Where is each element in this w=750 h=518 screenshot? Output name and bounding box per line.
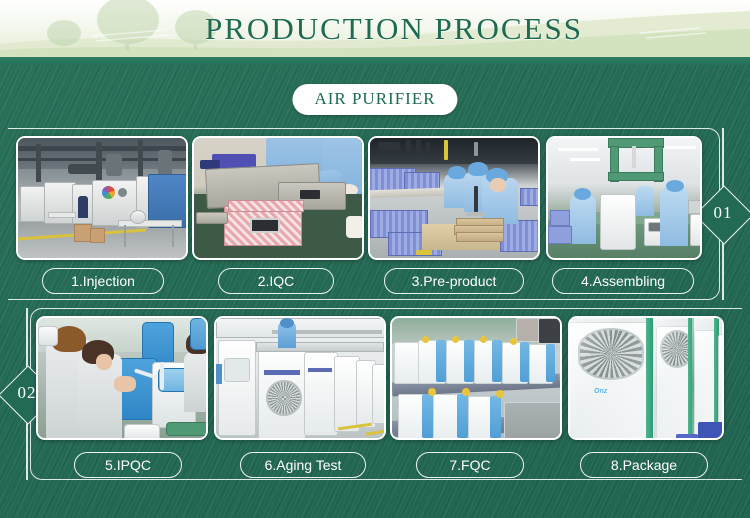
row-1-marker-number: 01 — [696, 203, 750, 223]
step-photo-ipqc[interactable] — [36, 316, 208, 440]
photo-final-quality-control — [392, 318, 560, 438]
photo-injection-molding — [18, 138, 186, 258]
photo-in-process-quality-control — [38, 318, 206, 438]
row-1-step-marker: 01 — [696, 128, 750, 300]
step-photo-fqc[interactable] — [390, 316, 562, 440]
production-process-infographic: PRODUCTION PROCESS AIR PURIFIER 01 02 — [0, 0, 750, 518]
photo-incoming-quality-control — [194, 138, 362, 258]
photo-packaged-units: Onz — [570, 318, 722, 438]
product-category-badge: AIR PURIFIER — [292, 84, 457, 115]
step-photo-injection[interactable] — [16, 136, 188, 260]
photo-pre-product-assembly — [370, 138, 538, 258]
step-caption-7: 7.FQC — [416, 452, 524, 478]
step-caption-5: 5.IPQC — [74, 452, 182, 478]
header-band: PRODUCTION PROCESS — [0, 0, 750, 57]
step-caption-1: 1.Injection — [42, 268, 164, 294]
step-caption-8: 8.Package — [580, 452, 708, 478]
step-photo-pre-product[interactable] — [368, 136, 540, 260]
step-caption-2: 2.IQC — [218, 268, 334, 294]
step-photo-aging-test[interactable] — [214, 316, 386, 440]
step-caption-3: 3.Pre-product — [384, 268, 524, 294]
header-divider — [0, 57, 750, 65]
step-photo-iqc[interactable] — [192, 136, 364, 260]
step-photo-assembling[interactable] — [546, 136, 702, 260]
step-caption-4: 4.Assembling — [552, 268, 694, 294]
photo-aging-test-line — [216, 318, 384, 438]
page-title: PRODUCTION PROCESS — [0, 0, 750, 57]
step-caption-6: 6.Aging Test — [240, 452, 366, 478]
photo-assembly-line — [548, 138, 700, 258]
step-photo-package[interactable]: Onz — [568, 316, 724, 440]
